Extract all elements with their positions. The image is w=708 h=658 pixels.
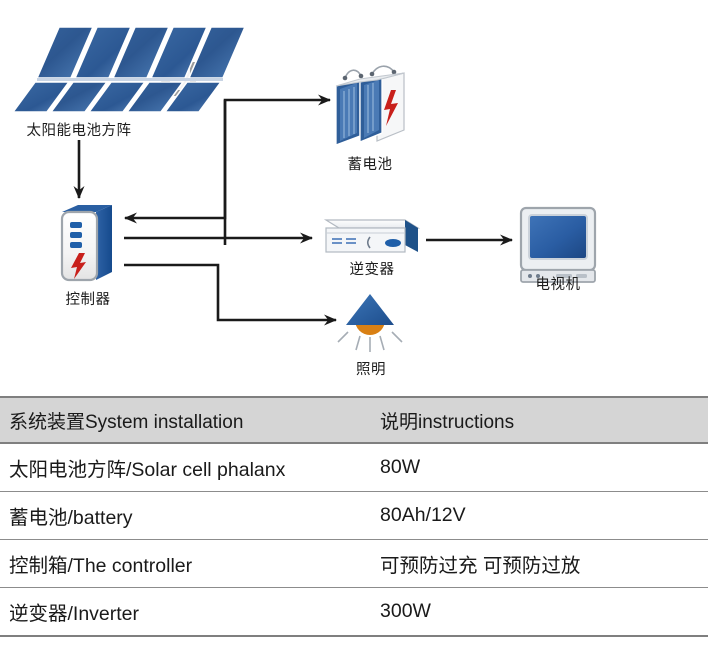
table-header-installation: 系统装置System installation — [0, 407, 380, 434]
table-header-row: 系统装置System installation 说明instructions — [0, 398, 708, 442]
label-lighting: 照明 — [340, 358, 402, 379]
system-schematic-diagram: 太阳能电池方阵 蓄电池 控制器 逆变器 电视机 照明 — [0, 0, 708, 396]
row-label-battery: 蓄电池/battery — [0, 501, 380, 530]
label-inverter: 逆变器 — [330, 258, 414, 279]
solar-system-diagram-page: 太阳能电池方阵 蓄电池 控制器 逆变器 电视机 照明 系统装置System in… — [0, 0, 708, 658]
table-header-instructions: 说明instructions — [380, 407, 708, 434]
solar-panel-array-icon — [13, 27, 245, 112]
arrow-battery-to-controller — [125, 100, 225, 218]
row-value-battery: 80Ah/12V — [380, 504, 708, 527]
table-row: 太阳电池方阵/Solar cell phalanx 80W — [0, 444, 708, 491]
lamp-icon — [338, 294, 402, 352]
row-value-inverter: 300W — [380, 600, 708, 623]
diagram-canvas — [0, 0, 708, 396]
row-label-solar-array: 太阳电池方阵/Solar cell phalanx — [0, 453, 380, 482]
table-row: 蓄电池/battery 80Ah/12V — [0, 492, 708, 539]
label-controller: 控制器 — [46, 288, 130, 309]
television-icon — [521, 208, 595, 282]
row-value-solar-array: 80W — [380, 456, 708, 479]
system-specification-table: 系统装置System installation 说明instructions 太… — [0, 396, 708, 637]
arrow-controller-to-lighting — [124, 265, 336, 320]
table-row: 逆变器/Inverter 300W — [0, 588, 708, 635]
row-label-controller: 控制箱/The controller — [0, 549, 380, 578]
label-television: 电视机 — [516, 273, 600, 294]
label-solar-array: 太阳能电池方阵 — [23, 119, 135, 140]
table-bottom-rule — [0, 635, 708, 637]
table-row: 控制箱/The controller 可预防过充 可预防过放 — [0, 540, 708, 587]
connection-arrows — [79, 100, 512, 320]
row-label-inverter: 逆变器/Inverter — [0, 597, 380, 626]
battery-icon — [336, 66, 404, 145]
arrow-controller-to-battery — [225, 100, 330, 245]
inverter-icon — [326, 220, 418, 252]
row-value-controller: 可预防过充 可预防过放 — [380, 549, 708, 578]
controller-box-icon — [62, 205, 112, 280]
label-battery: 蓄电池 — [328, 153, 412, 174]
